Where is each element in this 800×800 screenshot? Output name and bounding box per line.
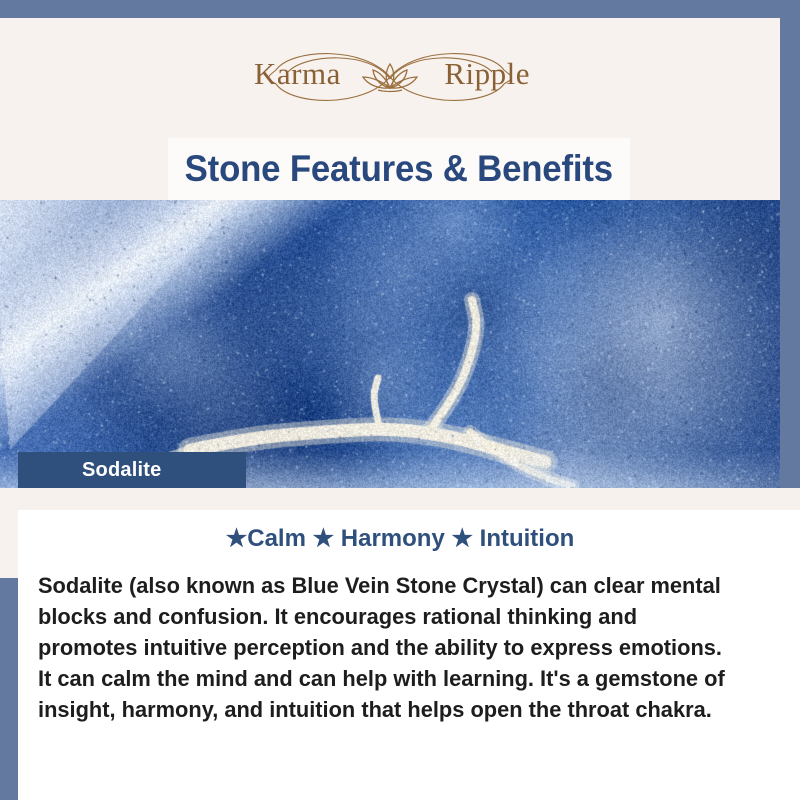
keyword-list: ★Calm ★ Harmony ★ Intuition <box>18 524 782 553</box>
content-area: ★Calm ★ Harmony ★ Intuition Sodalite (al… <box>18 488 800 800</box>
stone-name-label: Sodalite <box>82 459 161 482</box>
brand-name-left: Karma <box>254 56 341 92</box>
brand-name-right: Ripple <box>444 56 530 92</box>
brand-logo: Karma Ripple <box>0 40 780 114</box>
page-title: Stone Features & Benefits <box>185 148 613 190</box>
frame-top-bar <box>0 0 800 18</box>
stone-texture-canvas <box>0 200 780 488</box>
cream-divider-strip <box>18 488 800 510</box>
title-panel: Stone Features & Benefits <box>168 138 630 200</box>
stone-description: Sodalite (also known as Blue Vein Stone … <box>38 570 738 725</box>
sodalite-stone-photo <box>0 200 780 488</box>
stone-info-poster: Karma Ripple Stone Features & Benefits S… <box>0 0 800 800</box>
stone-name-bar: Sodalite <box>18 452 246 488</box>
